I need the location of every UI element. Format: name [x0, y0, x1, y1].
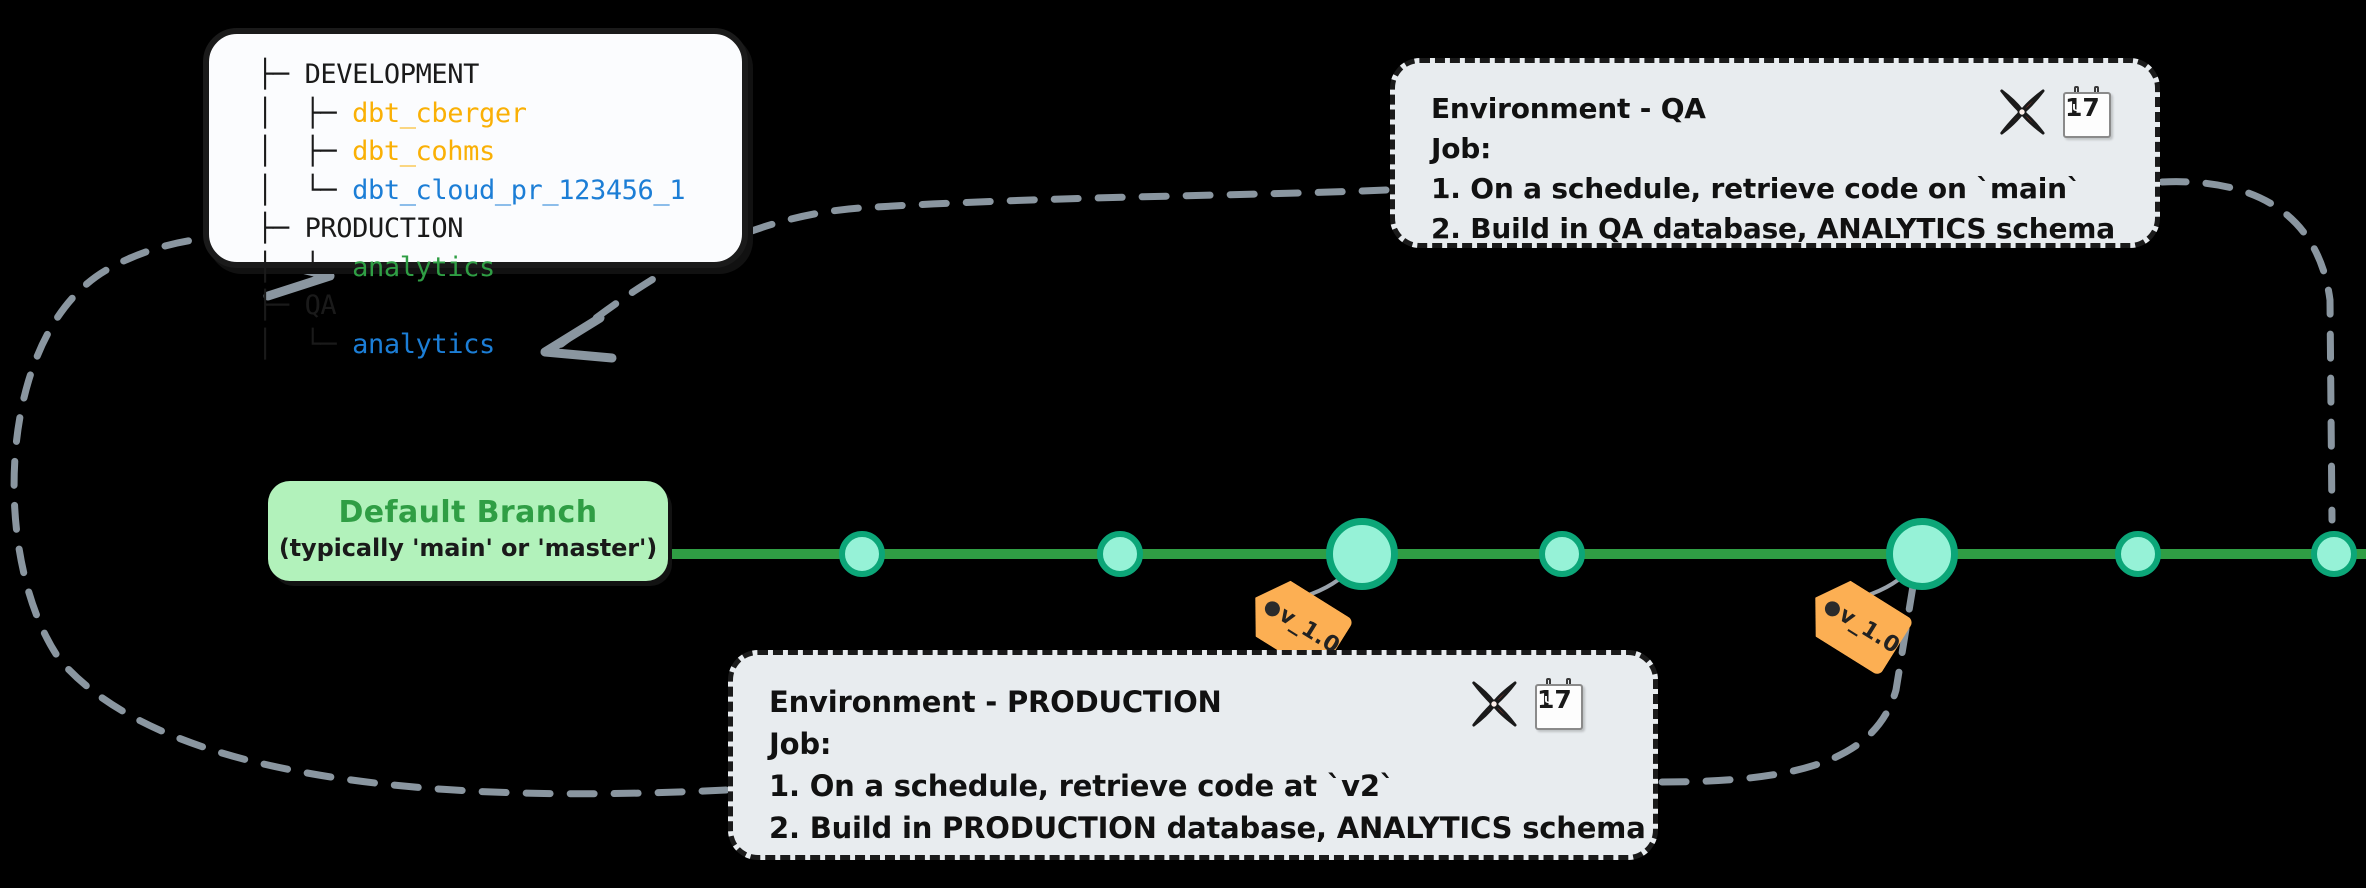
tree-row-label: QA — [305, 290, 337, 321]
tree-glyph: │ └─ — [257, 252, 352, 283]
commit-node[interactable] — [2311, 531, 2357, 577]
calendar-icon: JUL 17 — [2063, 86, 2111, 138]
commit-node[interactable] — [839, 531, 885, 577]
env-production-icons: JUL 17 — [1467, 677, 1583, 731]
env-qa-step-2: 2. Build in QA database, ANALYTICS schem… — [1431, 209, 2123, 249]
commit-node[interactable] — [2115, 531, 2161, 577]
tree-glyph: │ └─ — [257, 175, 352, 206]
tree-row-label: analytics — [352, 329, 495, 360]
commit-node[interactable] — [1886, 518, 1958, 590]
env-callout-qa: JUL 17 Environment - QA Job: 1. On a sch… — [1390, 58, 2160, 248]
calendar-month: JUL — [2068, 103, 2087, 114]
connector-qa-to-commit — [2162, 182, 2332, 520]
tree-glyph: │ ├─ — [257, 136, 352, 167]
tree-glyph: │ ├─ — [257, 98, 352, 129]
tree-glyph: ├─ — [257, 290, 305, 321]
tree-row[interactable]: │ └─ dbt_cloud_pr_123456_1 — [257, 172, 685, 211]
tree-row-label: DEVELOPMENT — [305, 59, 479, 90]
environment-tree-list: ├─ DEVELOPMENT│ ├─ dbt_cberger│ ├─ dbt_c… — [257, 56, 685, 364]
diagram-canvas: v_1.0v_1.0 Default Branch (typically 'ma… — [0, 0, 2366, 888]
calendar-icon: JUL 17 — [1535, 678, 1583, 730]
dbt-x-icon — [1995, 85, 2049, 139]
tree-row[interactable]: ├─ DEVELOPMENT — [257, 56, 685, 95]
dbt-x-icon — [1467, 677, 1521, 731]
environment-tree-card: ├─ DEVELOPMENT│ ├─ dbt_cberger│ ├─ dbt_c… — [203, 28, 748, 268]
tree-row[interactable]: │ ├─ dbt_cohms — [257, 133, 685, 172]
commit-node[interactable] — [1326, 518, 1398, 590]
tree-row-label: dbt_cberger — [352, 98, 526, 129]
tree-row[interactable]: │ └─ analytics — [257, 249, 685, 288]
tree-row-label: PRODUCTION — [305, 213, 464, 244]
tree-row-label: dbt_cloud_pr_123456_1 — [352, 175, 685, 206]
tree-glyph: ├─ — [257, 59, 305, 90]
calendar-month: JUL — [1540, 695, 1559, 706]
default-branch-subtitle: (typically 'main' or 'master') — [279, 533, 657, 563]
tree-row[interactable]: │ └─ analytics — [257, 326, 685, 365]
env-production-step-1: 1. On a schedule, retrieve code at `v2` — [769, 765, 1621, 807]
version-tag[interactable]: v_1.0 — [1798, 570, 1914, 677]
default-branch-label: Default Branch (typically 'main' or 'mas… — [268, 481, 668, 581]
tree-row[interactable]: │ ├─ dbt_cberger — [257, 95, 685, 134]
env-qa-icons: JUL 17 — [1995, 85, 2111, 139]
tree-glyph: ├─ — [257, 213, 305, 244]
tree-row[interactable]: ├─ PRODUCTION — [257, 210, 685, 249]
env-qa-step-1: 1. On a schedule, retrieve code on `main… — [1431, 169, 2123, 209]
tree-row-label: analytics — [352, 252, 495, 283]
tree-row-label: dbt_cohms — [352, 136, 495, 167]
commit-node[interactable] — [1097, 531, 1143, 577]
env-production-step-2: 2. Build in PRODUCTION database, ANALYTI… — [769, 807, 1621, 849]
env-callout-production: JUL 17 Environment - PRODUCTION Job: 1. … — [728, 650, 1658, 860]
tree-row[interactable]: ├─ QA — [257, 287, 685, 326]
commit-node[interactable] — [1539, 531, 1585, 577]
default-branch-line — [660, 549, 2366, 559]
tree-glyph: │ └─ — [257, 329, 352, 360]
default-branch-title: Default Branch — [339, 497, 598, 529]
